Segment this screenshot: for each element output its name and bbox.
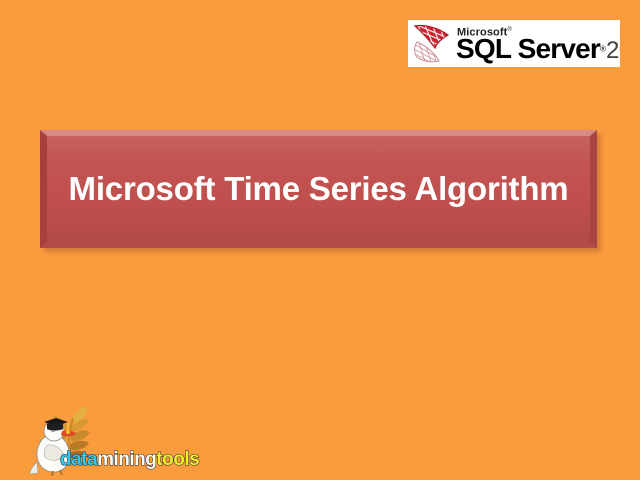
sql-server-swoosh-icon bbox=[410, 21, 456, 66]
product-name-line: SQL Server®2008 bbox=[456, 34, 620, 67]
dataminingtools-wordmark: dataminingtools bbox=[60, 448, 199, 472]
title-banner: Microsoft Time Series Algorithm bbox=[40, 130, 597, 248]
wordmark-part-mining: mining bbox=[97, 448, 156, 472]
wordmark-part-data: data bbox=[60, 448, 97, 472]
sql-server-wordmark: Microsoft® SQL Server®2008 bbox=[457, 21, 620, 66]
banner-body: Microsoft Time Series Algorithm bbox=[40, 130, 597, 248]
wordmark-part-tools: tools bbox=[156, 448, 199, 472]
page-title: Microsoft Time Series Algorithm bbox=[69, 170, 569, 208]
sql-server-2008-logo: Microsoft® SQL Server®2008 bbox=[408, 20, 620, 67]
product-name-text: SQL Server bbox=[456, 33, 600, 64]
slide-canvas: Microsoft® SQL Server®2008 Microsoft Tim… bbox=[0, 0, 640, 480]
product-version-text: 2008 bbox=[606, 37, 620, 64]
